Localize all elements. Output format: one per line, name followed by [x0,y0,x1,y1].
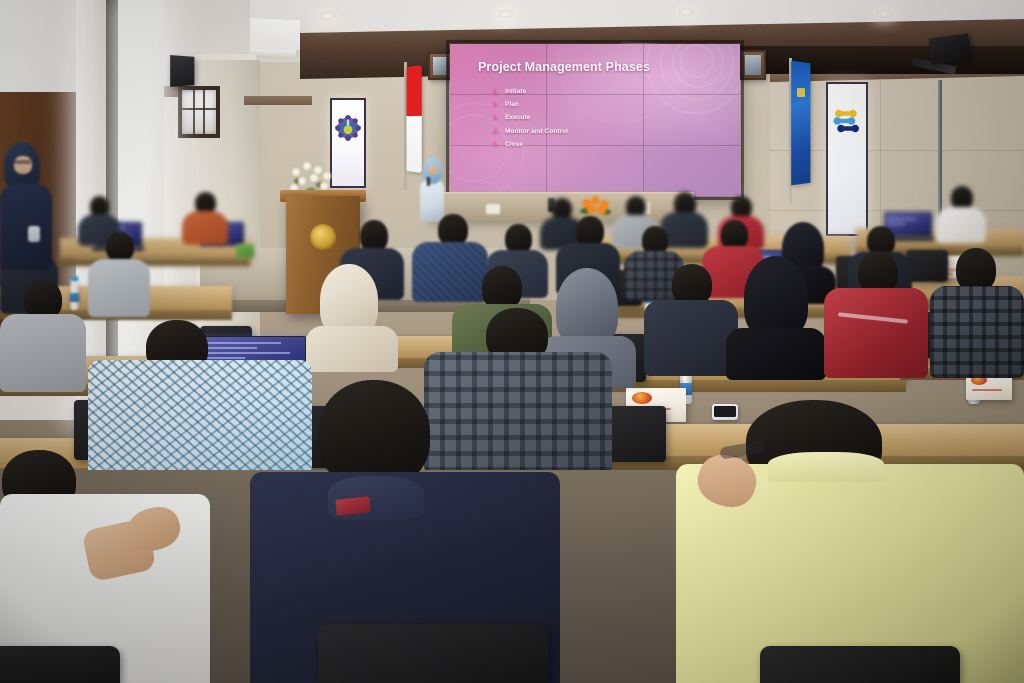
slide-item: 5.Close [493,142,568,149]
attendee-plaid-shirt [930,248,1024,376]
attendee-yellow-polo [676,400,1024,683]
podium-emblem-icon [310,224,336,250]
chair-green [236,244,254,258]
microphone-icon [427,177,430,186]
video-wall-display[interactable]: Project Management Phases 1.Initiate 2.P… [450,44,740,196]
attendee-red-jacket [824,252,928,376]
slide-item: 4.Monitor and Control [493,129,568,136]
presenter [418,158,446,220]
attendee-gray-top [88,232,150,316]
institution-logo-icon [334,114,362,142]
eyeglasses-icon [14,160,31,164]
framed-portrait [740,50,766,80]
chair [0,646,120,683]
downlight [876,10,892,18]
flag-emblem [797,88,805,97]
video-light-icon [928,33,971,64]
slide-item: 1.Initiate [493,89,568,96]
attendee-orange-shirt [182,192,228,244]
downlight [678,8,694,16]
right-vertical-banner [826,82,868,236]
slide-bullet-list: 1.Initiate 2.Plan 3.Execute 4.Monitor an… [493,89,568,155]
blue-institution-flag [791,61,810,186]
paper-stack [486,204,500,214]
downlight [498,10,514,18]
organization-logo-icon [832,108,862,134]
attendee-navy-hijab [0,142,52,272]
seminar-room-photo: Project Management Phases 1.Initiate 2.P… [0,0,1024,683]
slide-item: 2.Plan [493,102,568,109]
window-grille [182,90,216,134]
smartphone[interactable] [28,226,40,242]
chair [760,646,960,683]
attendee-gray-shirt [0,280,86,390]
indonesian-flag [407,65,422,173]
framed-portrait [428,52,452,80]
attendee-white-shirt [936,186,986,242]
presenter-face [428,165,438,176]
chair [318,624,548,683]
attendee-black-hijab [726,256,826,378]
window [178,86,220,138]
wall-speaker [170,55,194,87]
attendee-dark-hair [644,264,738,374]
slide-title: Project Management Phases [478,60,650,74]
attendee-cream-hijab [306,264,398,368]
collar [768,452,884,482]
downlight [320,12,336,20]
left-wall-trim [244,96,312,105]
slide-item: 3.Execute [493,115,568,122]
